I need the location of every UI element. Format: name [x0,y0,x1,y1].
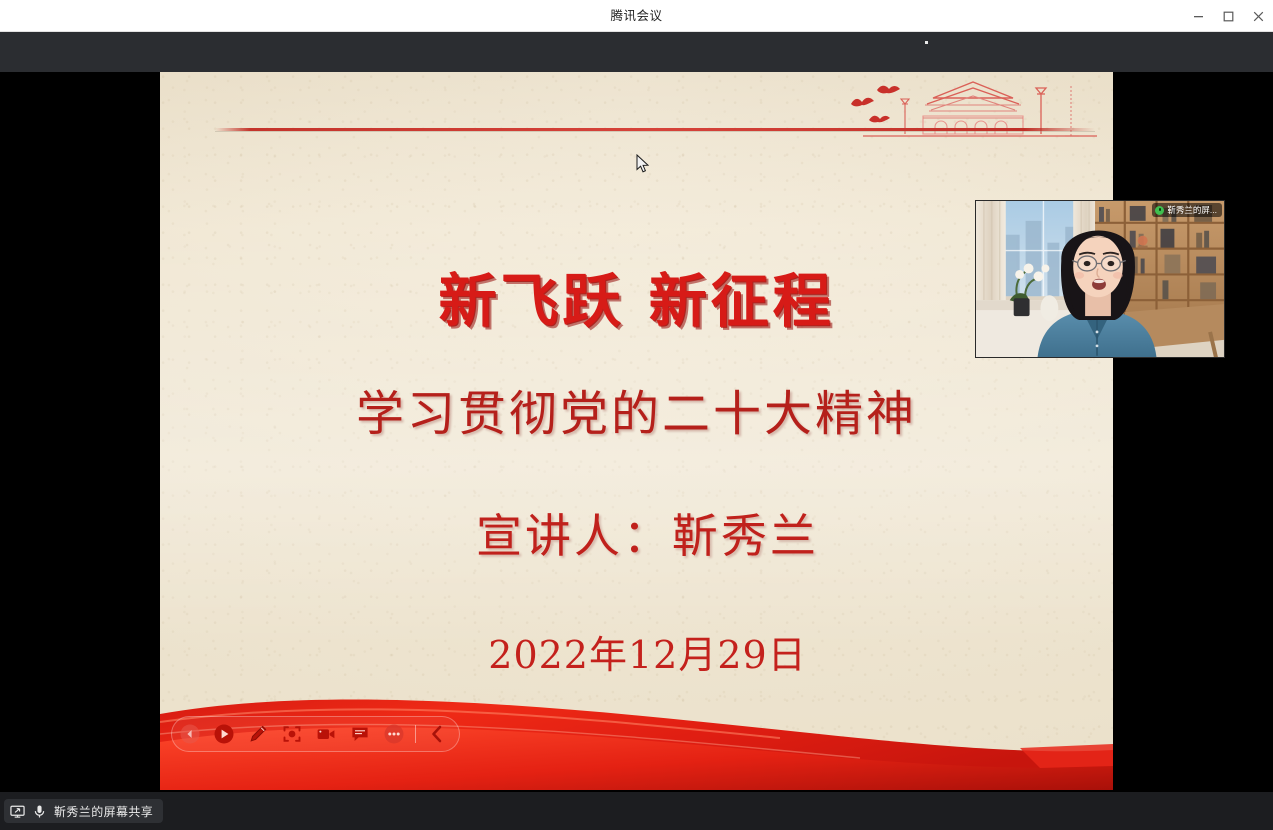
slide-speaker: 宣讲人：靳秀兰 [160,500,1113,566]
play-circle-icon [213,723,235,745]
pen-annotate-button[interactable] [242,719,274,749]
ellipsis-circle-icon [383,723,405,745]
presentation-toolbar[interactable] [171,716,460,752]
previous-slide-button[interactable] [174,719,206,749]
participant-video-thumbnail[interactable]: 靳秀兰的屏... [975,200,1225,358]
prev-circle-icon [179,723,201,745]
meeting-statusbar: 靳秀兰的屏幕共享 [0,792,1273,830]
toolbar-separator [415,725,416,743]
window-controls [1183,0,1273,32]
laser-focus-button[interactable] [276,719,308,749]
chevron-left-icon [428,723,446,745]
window-title: 腾讯会议 [0,0,1273,32]
mouse-cursor [636,154,650,174]
minimize-icon [1193,11,1204,22]
meeting-top-toolbar [0,32,1273,72]
screen-share-icon [10,804,25,819]
collapse-toolbar-button[interactable] [421,719,453,749]
focus-frame-icon [281,723,303,745]
record-video-button[interactable] [310,719,342,749]
maximize-button[interactable] [1213,0,1243,32]
shared-screen-stage: 新飞跃 新征程 学习贯彻党的二十大精神 宣讲人：靳秀兰 2022年12月29日 [0,72,1273,792]
pen-icon [247,723,269,745]
participant-name: 靳秀兰的屏... [1167,204,1217,216]
maximize-icon [1223,11,1234,22]
participant-label: 靳秀兰的屏... [1152,203,1222,217]
video-feed [976,201,1224,358]
header-divider [215,128,1095,131]
slide-subtitle: 学习贯彻党的二十大精神 [160,374,1113,444]
screen-share-status[interactable]: 靳秀兰的屏幕共享 [4,799,163,823]
toolbar-indicator-dot [925,41,928,44]
microphone-icon [32,804,47,819]
minimize-button[interactable] [1183,0,1213,32]
shared-slide: 新飞跃 新征程 学习贯彻党的二十大精神 宣讲人：靳秀兰 2022年12月29日 [160,72,1113,790]
speaker-notes-button[interactable] [344,719,376,749]
video-camera-icon [315,723,337,745]
close-button[interactable] [1243,0,1273,32]
window-titlebar: 腾讯会议 [0,0,1273,32]
microphone-active-icon [1155,206,1164,215]
slide-main-title: 新飞跃 新征程 [160,254,1113,338]
tiananmen-line-art-icon [855,74,1105,142]
close-icon [1253,11,1264,22]
screen-share-label: 靳秀兰的屏幕共享 [54,803,153,820]
chat-bubble-icon [349,723,371,745]
play-slideshow-button[interactable] [208,719,240,749]
more-options-button[interactable] [378,719,410,749]
tencent-meeting-window: 腾讯会议 [0,0,1273,830]
